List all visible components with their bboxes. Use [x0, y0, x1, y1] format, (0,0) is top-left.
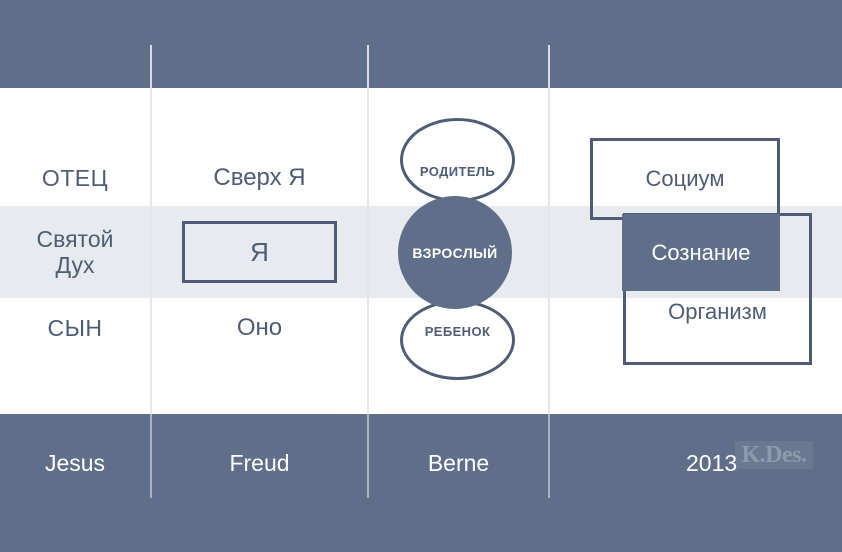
- circle-parent-label: РОДИТЕЛЬ: [420, 164, 495, 179]
- box-organism-label: Организм: [668, 299, 767, 325]
- box-socium-label: Социум: [646, 166, 725, 192]
- footer-label-freud: Freud: [152, 438, 367, 488]
- cell-freud-upper: Сверх Я: [152, 150, 367, 206]
- circle-adult-label: ВЗРОСЛЫЙ: [412, 245, 497, 261]
- column-divider-2-body: [367, 88, 369, 414]
- box-soznanie: Сознание: [622, 214, 780, 291]
- cell-freud-middle-label: Я: [250, 237, 269, 268]
- footer-label-jesus: Jesus: [0, 438, 150, 488]
- cell-freud-middle-box: Я: [182, 221, 337, 283]
- circle-child: РЕБЕНОК: [400, 300, 515, 380]
- cell-religion-middle: Святой Дух: [0, 206, 150, 298]
- cell-freud-lower: Оно: [152, 298, 367, 358]
- box-soznanie-label: Сознание: [651, 240, 750, 266]
- footer-label-berne: Berne: [369, 438, 548, 488]
- box-socium: Социум: [590, 138, 780, 220]
- column-divider-2-header: [367, 45, 369, 88]
- column-divider-3-header: [548, 45, 550, 88]
- circle-parent: РОДИТЕЛЬ: [400, 118, 515, 202]
- cell-religion-middle-line2: Дух: [37, 252, 114, 278]
- cell-religion-middle-line1: Святой: [37, 226, 114, 252]
- circle-child-label: РЕБЕНОК: [425, 324, 491, 339]
- circle-adult: ВЗРОСЛЫЙ: [398, 196, 512, 309]
- column-divider-3-body: [548, 88, 550, 414]
- cell-religion-lower: СЫН: [0, 298, 150, 358]
- header-band: [0, 0, 842, 88]
- column-divider-1-header: [150, 45, 152, 88]
- slide-canvas: ОТЕЦ Святой Дух СЫН Сверх Я Я Оно РОДИТЕ…: [0, 0, 842, 552]
- watermark-logo: K.Des.: [735, 441, 813, 469]
- cell-religion-upper: ОТЕЦ: [0, 150, 150, 206]
- column-divider-1-body: [150, 88, 152, 414]
